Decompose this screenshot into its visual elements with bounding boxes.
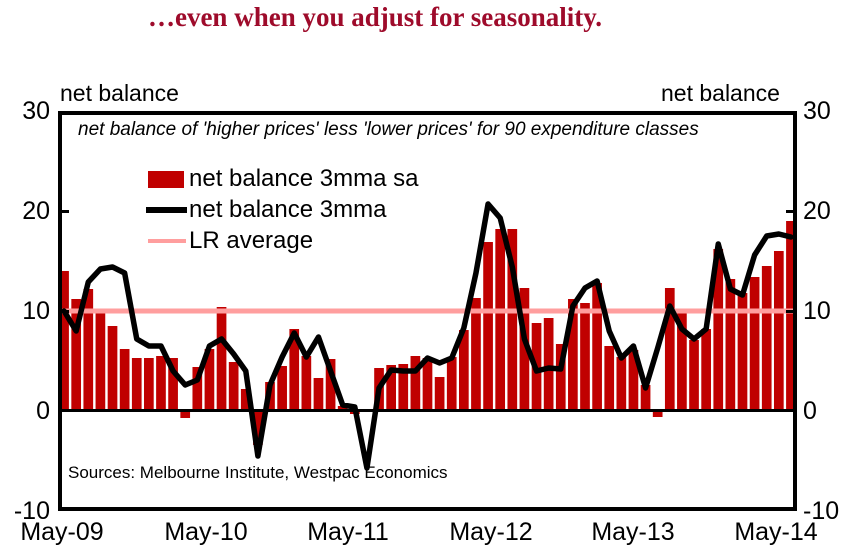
bar bbox=[701, 329, 711, 411]
y-tick-left-30: 30 bbox=[0, 99, 50, 124]
legend-label-line: net balance 3mma bbox=[189, 196, 386, 224]
left-axis-unit-label: net balance bbox=[60, 80, 179, 107]
legend-item-lr-average: LR average bbox=[144, 225, 418, 256]
bar bbox=[277, 366, 287, 411]
legend-swatch-line-icon bbox=[144, 194, 187, 225]
axis-frame-top bbox=[58, 111, 797, 115]
zero-baseline bbox=[58, 409, 797, 412]
right-axis-unit-label: net balance bbox=[661, 80, 780, 107]
bar bbox=[604, 346, 614, 411]
y-tick-right-20: 20 bbox=[803, 199, 863, 224]
bar bbox=[302, 356, 312, 411]
bar bbox=[132, 358, 142, 411]
axis-frame-bottom bbox=[58, 507, 797, 511]
bar bbox=[229, 362, 239, 411]
page-title: …even when you adjust for seasonality. bbox=[0, 2, 750, 33]
bar bbox=[774, 251, 784, 411]
chart-page: …even when you adjust for seasonality. n… bbox=[0, 0, 865, 560]
bar bbox=[156, 356, 166, 411]
y-tick-left-0: 0 bbox=[0, 399, 50, 424]
bar bbox=[471, 298, 481, 411]
y-tick-right-0: 0 bbox=[803, 399, 863, 424]
bar bbox=[447, 357, 457, 411]
bar bbox=[314, 378, 324, 411]
tick-right-10 bbox=[786, 310, 797, 313]
source-note: Sources: Melbourne Institute, Westpac Ec… bbox=[68, 463, 448, 483]
legend-label-lr-average: LR average bbox=[189, 227, 313, 255]
bar bbox=[483, 242, 493, 411]
bar bbox=[83, 289, 93, 411]
x-tick-may-10: May-10 bbox=[141, 518, 271, 547]
bar bbox=[144, 358, 154, 411]
bar bbox=[217, 307, 227, 411]
legend-swatch-bar-icon bbox=[144, 163, 187, 194]
chart-legend: net balance 3mma sa net balance 3mma LR … bbox=[144, 163, 418, 256]
bar bbox=[750, 277, 760, 411]
x-tick-may-13: May-13 bbox=[568, 518, 698, 547]
legend-item-line: net balance 3mma bbox=[144, 194, 418, 225]
legend-swatch-lr-average-icon bbox=[144, 225, 187, 256]
bar bbox=[180, 411, 190, 418]
tick-right-20 bbox=[786, 210, 797, 213]
bar bbox=[580, 303, 590, 411]
bar bbox=[423, 358, 433, 411]
x-tick-may-12: May-12 bbox=[426, 518, 556, 547]
bar bbox=[495, 229, 505, 411]
legend-label-bar: net balance 3mma sa bbox=[189, 165, 418, 193]
bar bbox=[689, 340, 699, 411]
y-tick-right-10: 10 bbox=[803, 299, 863, 324]
tick-left-10 bbox=[58, 310, 69, 313]
x-tick-may-11: May-11 bbox=[283, 518, 413, 547]
bar bbox=[616, 357, 626, 411]
y-tick-right-30: 30 bbox=[803, 99, 863, 124]
bar bbox=[762, 266, 772, 411]
bar bbox=[108, 326, 118, 411]
x-tick-may-09: May-09 bbox=[0, 518, 127, 547]
bar bbox=[435, 377, 445, 411]
x-tick-may-14: May-14 bbox=[711, 518, 841, 547]
y-tick-left-20: 20 bbox=[0, 199, 50, 224]
tick-left-20 bbox=[58, 210, 69, 213]
bar bbox=[726, 279, 736, 411]
bar bbox=[544, 318, 554, 411]
bar bbox=[96, 311, 106, 411]
plot-area: net balance of 'higher prices' less 'low… bbox=[58, 111, 797, 511]
legend-item-bar: net balance 3mma sa bbox=[144, 163, 418, 194]
chart-subtitle: net balance of 'higher prices' less 'low… bbox=[78, 119, 699, 141]
y-tick-left-10: 10 bbox=[0, 299, 50, 324]
bar bbox=[120, 349, 130, 411]
